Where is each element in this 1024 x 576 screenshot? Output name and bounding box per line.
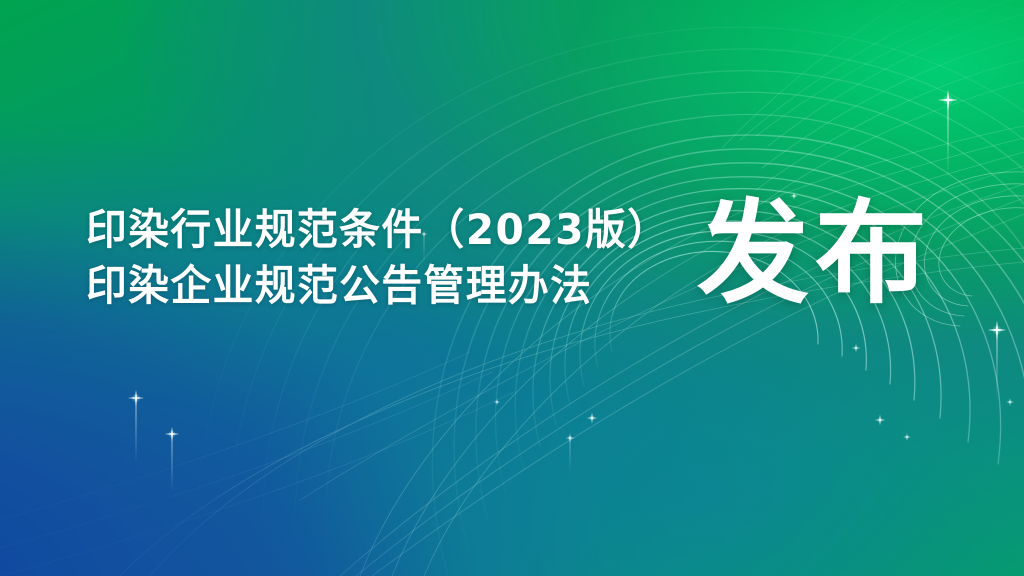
emphasis-word-fabu: 发布 [697,198,933,310]
headline-line-1: 印染行业规范条件（2023版） [86,202,687,258]
headline-line-2: 印染企业规范公告管理办法 [86,258,687,314]
promo-banner: 印染行业规范条件（2023版） 印染企业规范公告管理办法 发布 [0,0,1024,576]
headline-block: 印染行业规范条件（2023版） 印染企业规范公告管理办法 [86,202,706,314]
